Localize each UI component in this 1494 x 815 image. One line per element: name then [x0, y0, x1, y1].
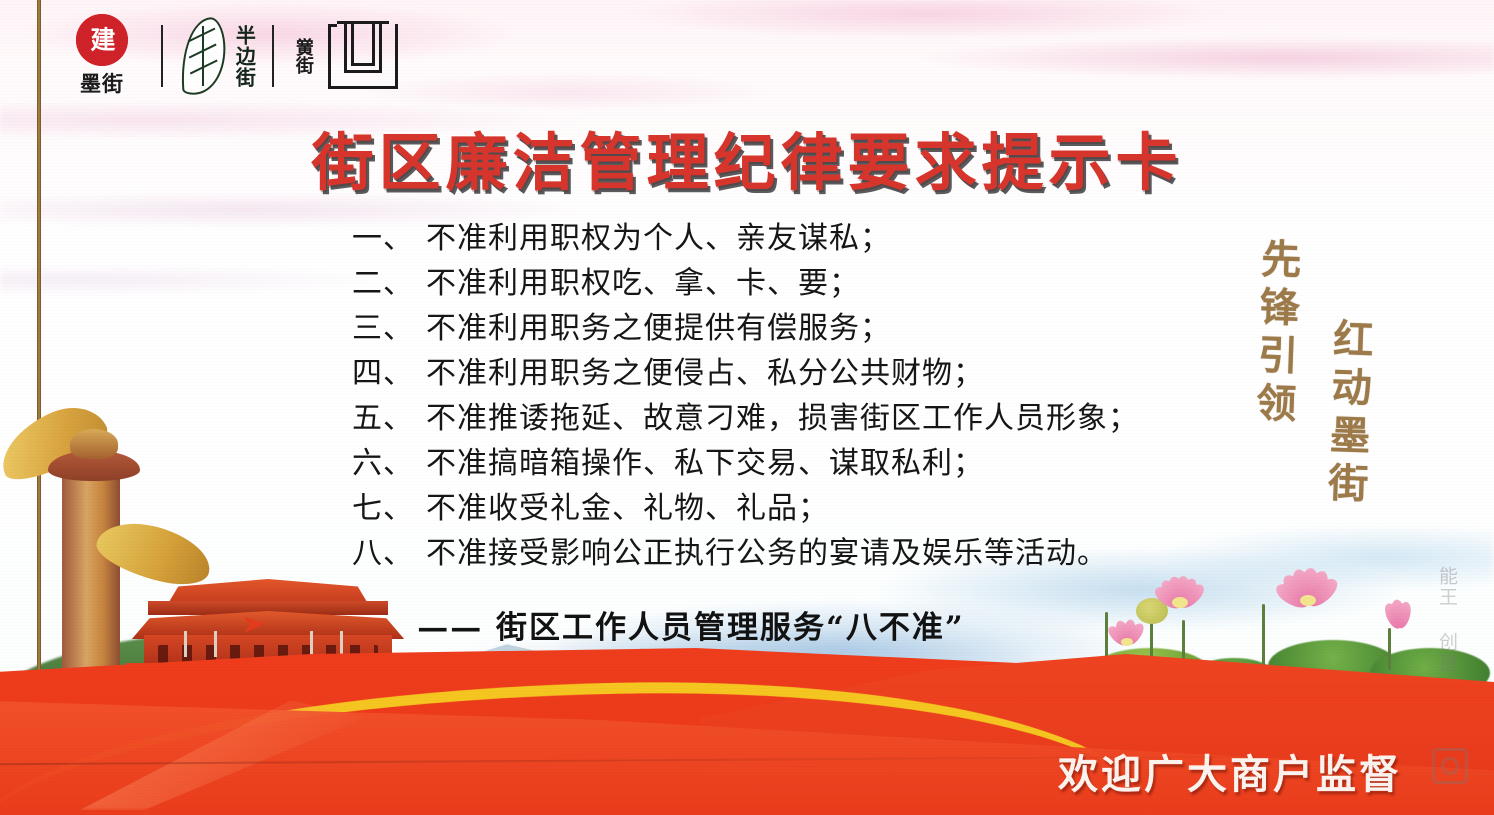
logo-molu-label: 墨街 — [80, 68, 124, 98]
page-title: 街区廉洁管理纪律要求提示卡 — [0, 112, 1494, 202]
rule-number: 七、 — [352, 486, 426, 531]
rule-text: 不准搞暗箱操作、私下交易、谋取私利； — [426, 441, 1232, 486]
square-maze-emblem-icon — [328, 24, 398, 89]
rule-item: 一、 不准利用职权为个人、亲友谋私； — [352, 216, 1232, 261]
rule-text: 不准利用职务之便提供有偿服务； — [426, 306, 1232, 351]
rule-item: 四、 不准利用职务之便侵占、私分公共财物； — [352, 351, 1232, 396]
rule-item: 三、 不准利用职务之便提供有偿服务； — [352, 306, 1232, 351]
logo-hongjie-label: 黉街 — [291, 38, 314, 74]
rule-text: 不准利用职权为个人、亲友谋私； — [426, 216, 1232, 261]
seal-mark-text: 建 — [91, 28, 114, 53]
rule-item: 二、 不准利用职权吃、拿、卡、要； — [352, 261, 1232, 306]
logo-divider-1 — [161, 25, 163, 87]
rule-number: 五、 — [352, 396, 426, 441]
rules-list: 一、 不准利用职权为个人、亲友谋私； 二、 不准利用职权吃、拿、卡、要； 三、 … — [352, 216, 1232, 576]
rule-number: 二、 — [352, 261, 426, 306]
supervision-slogan: 欢迎广大商户监督 — [1058, 742, 1402, 800]
rule-item: 六、 不准搞暗箱操作、私下交易、谋取私利； — [352, 441, 1232, 486]
calligraphy-column-right: 红动墨街 — [1317, 317, 1376, 511]
rule-text: 不准利用职权吃、拿、卡、要； — [426, 261, 1232, 306]
calligraphy-column-left: 先锋引领 — [1245, 237, 1304, 431]
rule-number: 四、 — [352, 351, 426, 396]
rule-text: 不准利用职务之便侵占、私分公共财物； — [426, 351, 1232, 396]
rule-number: 一、 — [352, 216, 426, 261]
rule-number: 六、 — [352, 441, 426, 486]
logo-banbianjie[interactable]: 半边街 — [180, 18, 255, 94]
logo-molu[interactable]: 建 墨街 — [60, 14, 144, 98]
leaf-icon — [177, 16, 228, 95]
rule-item: 八、 不准接受影响公正执行公务的宴请及娱乐等活动。 — [352, 531, 1232, 576]
logo-divider-2 — [272, 25, 274, 87]
round-seal-icon: 建 — [76, 14, 128, 66]
rule-item: 五、 不准推诿拖延、故意刁难，损害街区工作人员形象； — [352, 396, 1232, 441]
rule-number: 八、 — [352, 531, 426, 576]
watermark-badge-icon — [1432, 748, 1468, 784]
rule-text: 不准收受礼金、礼物、礼品； — [426, 486, 1232, 531]
logo-banbianjie-label: 半边街 — [233, 25, 255, 88]
prompt-card: 建 墨街 半边街 黉街 街区廉洁管理纪律要求提示卡 一、 不准利用职权为个人、亲… — [0, 0, 1494, 815]
brand-logo-strip: 建 墨街 半边街 黉街 — [60, 14, 398, 98]
attribution-line: —— 街区工作人员管理服务“八不准” — [0, 602, 1494, 647]
rule-text: 不准推诿拖延、故意刁难，损害街区工作人员形象； — [426, 396, 1232, 441]
rule-text: 不准接受影响公正执行公务的宴请及娱乐等活动。 — [426, 531, 1232, 576]
rule-item: 七、 不准收受礼金、礼物、礼品； — [352, 486, 1232, 531]
watermark-text: 能王 创建 — [1434, 566, 1461, 674]
rule-number: 三、 — [352, 306, 426, 351]
